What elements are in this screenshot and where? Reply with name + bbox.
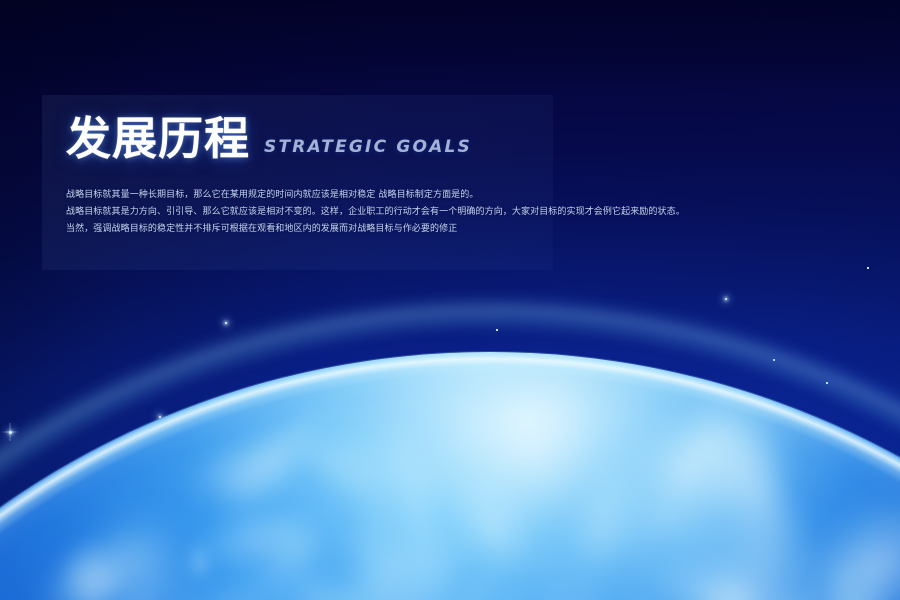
body-copy-block: 战略目标就其量一种长期目标，那么它在某用规定的时间内就应该是相对稳定 战略目标制…: [66, 187, 766, 238]
banner-stage: 发展历程 STRATEGIC GOALS 战略目标就其量一种长期目标，那么它在某…: [0, 0, 900, 600]
headline-block: 发展历程 STRATEGIC GOALS: [66, 116, 472, 161]
space-sky-background: [0, 0, 900, 600]
body-line: 当然，强调战略目标的稳定性并不排斥可根据在观看和地区内的发展而对战略目标与作必要…: [66, 221, 766, 238]
page-title: 发展历程: [66, 116, 250, 161]
body-line: 战略目标就其量一种长期目标，那么它在某用规定的时间内就应该是相对稳定 战略目标制…: [66, 187, 766, 204]
body-line: 战略目标就其是力方向、引引导、那么它就应该是相对不变的。这样，企业职工的行动才会…: [66, 204, 766, 221]
page-subtitle: STRATEGIC GOALS: [264, 139, 472, 156]
